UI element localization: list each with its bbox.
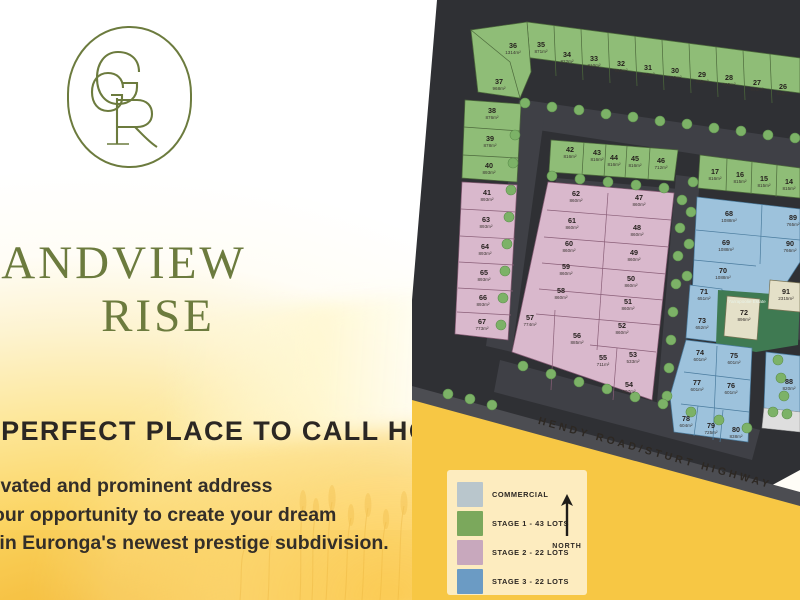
north-arrow-icon [557, 492, 577, 536]
brand-line-2: RISE [0, 293, 360, 340]
map-legend: COMMERCIAL STAGE 1 - 43 LOTS STAGE 2 - 2… [447, 470, 587, 595]
legend-label-commercial: COMMERCIAL [492, 490, 548, 499]
site-plan-banner: GRANDVIEW RISE THE PERFECT PLACE TO CALL… [0, 0, 800, 600]
promo-headline: THE PERFECT PLACE TO CALL HOME [0, 416, 470, 447]
promo-body-line-3: home in Euronga's newest prestige subdiv… [0, 530, 389, 558]
promo-body-line-2: and your opportunity to create your drea… [0, 502, 389, 530]
legend-item-stage-3[interactable]: STAGE 3 - 22 LOTS [457, 569, 569, 594]
legend-label-stage-3: STAGE 3 - 22 LOTS [492, 577, 569, 586]
promo-body-line-1: An elevated and prominent address [0, 473, 389, 501]
brand-line-1: GRANDVIEW [0, 237, 247, 289]
legend-item-commercial[interactable]: COMMERCIAL [457, 482, 548, 507]
gr-monogram-icon [67, 26, 192, 168]
brand-logo [55, 20, 240, 170]
promo-panel: GRANDVIEW RISE THE PERFECT PLACE TO CALL… [0, 0, 470, 600]
north-indicator: NORTH [550, 492, 584, 550]
legend-swatch-stage-2 [457, 540, 483, 565]
brand-wordmark: GRANDVIEW RISE [0, 240, 360, 340]
promo-body-copy: An elevated and prominent address and yo… [0, 473, 389, 559]
legend-swatch-commercial [457, 482, 483, 507]
north-label: NORTH [550, 543, 584, 550]
legend-swatch-stage-1 [457, 511, 483, 536]
yarrapoolie-estate-label: Yarrapoolie Estate [728, 299, 766, 304]
legend-swatch-stage-3 [457, 569, 483, 594]
